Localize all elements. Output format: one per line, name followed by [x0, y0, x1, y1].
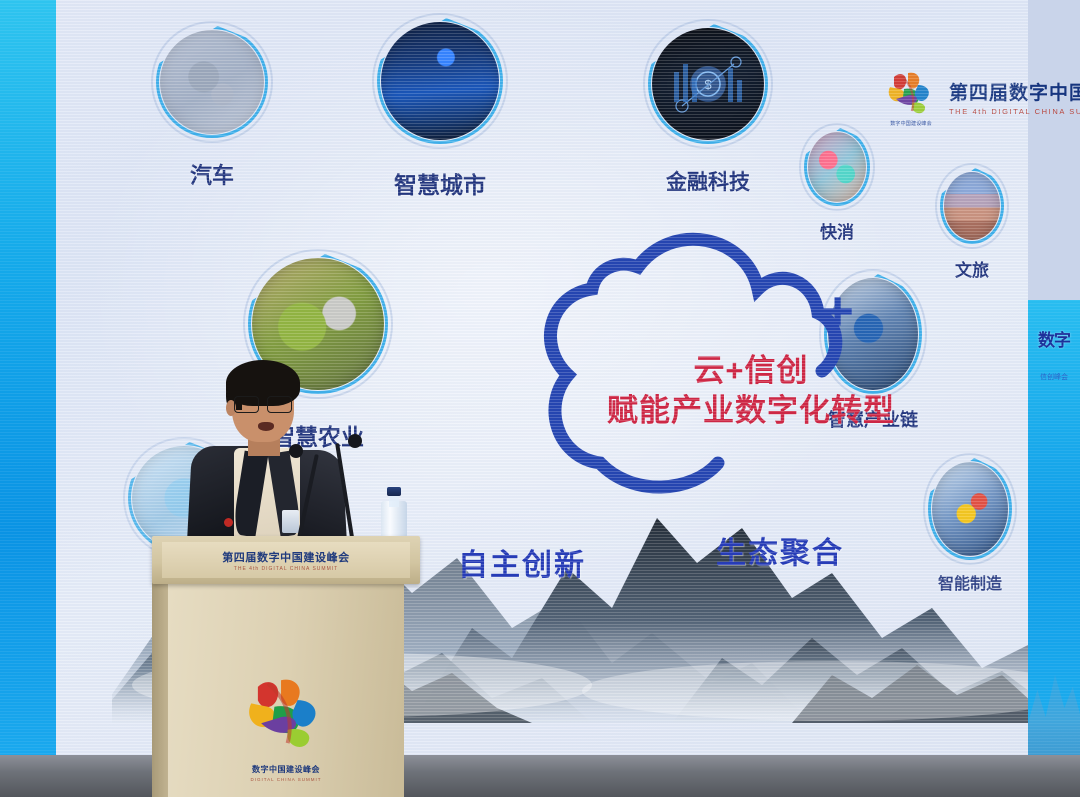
- industry-circle-manufacturing: 智能制造: [932, 462, 1008, 556]
- factory-floor-photo: [932, 462, 1008, 556]
- speaker-name-badge: [282, 510, 299, 533]
- summit-logo-mark-sub: 数字中国建设峰会: [882, 120, 940, 127]
- conference-photo-scene: 数字中国建设峰会 第四届数字中国建设峰会 THE 4th DIGITAL CHI…: [0, 0, 1080, 797]
- scenic-landscape-photo: [944, 172, 1000, 240]
- bottle-cap: [387, 487, 401, 496]
- financial-chart-photo: $: [652, 28, 764, 140]
- podium-logo-sub-cn: 数字中国建设峰会: [226, 764, 346, 775]
- speaker-glasses-icon: [234, 396, 292, 411]
- podium-logo-sub-en: DIGITAL CHINA SUMMIT: [226, 777, 346, 782]
- industry-circle-fmcg: 快消: [808, 132, 866, 202]
- industry-circle-automotive: 汽车: [160, 30, 264, 134]
- industry-label-fintech: 金融科技: [608, 166, 808, 196]
- speaker-lapel-pin-icon: [224, 518, 233, 527]
- industry-circle-smart-city: 智慧城市: [381, 22, 499, 140]
- right-wall-panel: 数字 信创峰会: [1028, 300, 1080, 780]
- water-bottle: [381, 487, 407, 539]
- podium-top: 第四届数字中国建设峰会 THE 4th DIGITAL CHINA SUMMIT: [152, 536, 420, 584]
- industry-circle-tourism: 文旅: [944, 172, 1000, 240]
- pillar-label-ecosystem: 生态聚合: [716, 528, 844, 572]
- right-panel-title: 数字: [1034, 332, 1074, 350]
- podium: 数字中国建设峰会 DIGITAL CHINA SUMMIT 第四届数字中国建设峰…: [152, 536, 420, 797]
- podium-banner-en: THE 4th DIGITAL CHINA SUMMIT: [234, 566, 338, 572]
- svg-text:$: $: [704, 77, 712, 92]
- cloud-plus-symbol: +: [821, 283, 854, 339]
- night-city-skyline-photo: [381, 22, 499, 140]
- pillar-label-innovation: 自主创新: [458, 540, 586, 584]
- summit-logo-mark-icon: 数字中国建设峰会: [882, 69, 940, 125]
- podium-banner-cn: 第四届数字中国建设峰会: [222, 549, 350, 565]
- consumer-goods-photo: [808, 132, 866, 202]
- headline-line-2: 赋能产业数字化转型: [576, 391, 926, 431]
- industry-label-smart-city: 智慧城市: [340, 166, 540, 200]
- summit-logo-title-en: THE 4th DIGITAL CHINA SUMMIT: [949, 107, 1080, 116]
- summit-logo-text: 第四届数字中国建设峰会 THE 4th DIGITAL CHINA SUMMIT: [949, 78, 1080, 116]
- industry-circle-fintech: $ 金融科技: [652, 28, 764, 140]
- summit-logo: 数字中国建设峰会 第四届数字中国建设峰会 THE 4th DIGITAL CHI…: [882, 66, 1080, 128]
- headline-line-1: 云+信创: [576, 352, 926, 391]
- microphone-head-left: [289, 444, 303, 458]
- speaker-mouth: [258, 422, 274, 431]
- bottle-neck: [389, 495, 399, 507]
- automotive-gear-photo: [160, 30, 264, 134]
- podium-banner: 第四届数字中国建设峰会 THE 4th DIGITAL CHINA SUMMIT: [162, 542, 410, 578]
- summit-logo-title-cn: 第四届数字中国建设峰会: [949, 78, 1080, 105]
- slide-headline: 云+信创 赋能产业数字化转型: [576, 352, 926, 431]
- left-wall-panel: [0, 0, 56, 760]
- podium-logo: 数字中国建设峰会 DIGITAL CHINA SUMMIT: [226, 670, 346, 782]
- podium-body: 数字中国建设峰会 DIGITAL CHINA SUMMIT: [168, 584, 404, 797]
- industry-label-automotive: 汽车: [112, 158, 312, 190]
- microphone-head-right: [348, 434, 362, 448]
- right-panel-subtitle: 信创峰会: [1034, 374, 1074, 382]
